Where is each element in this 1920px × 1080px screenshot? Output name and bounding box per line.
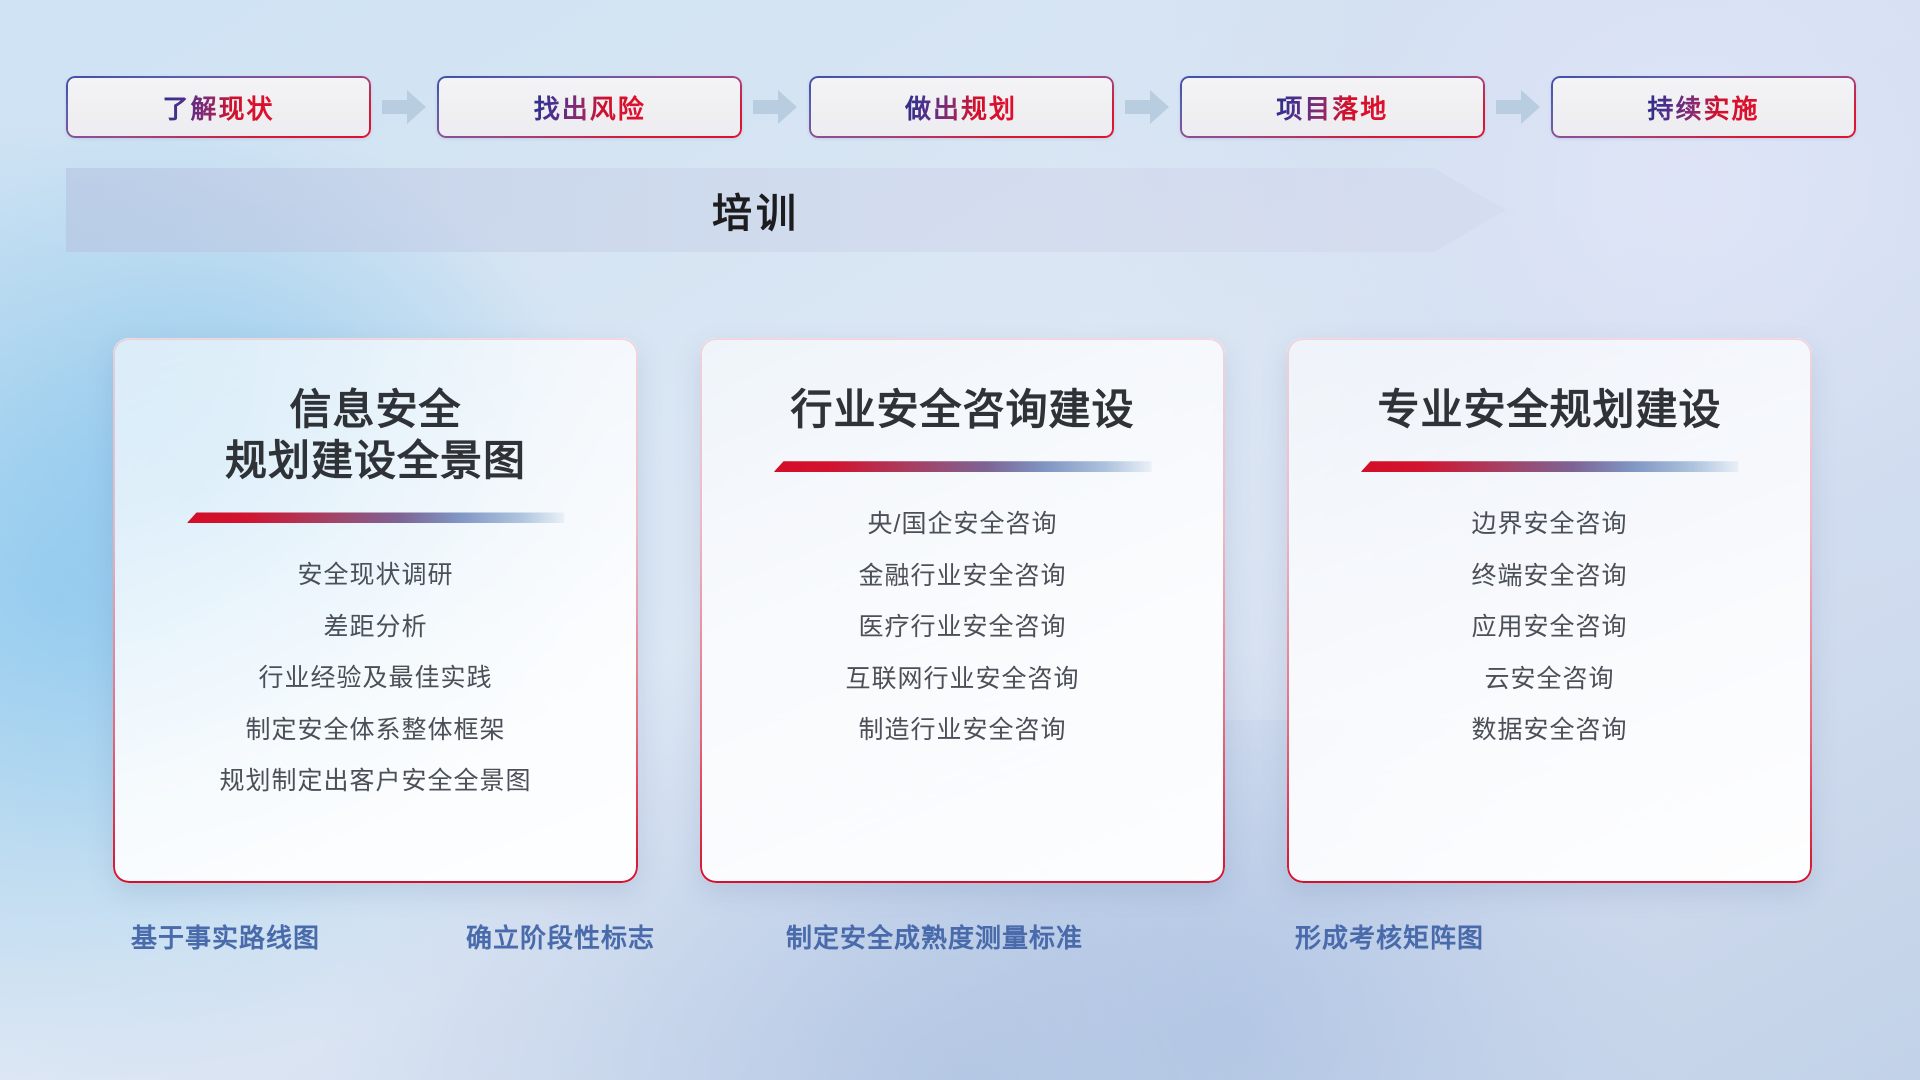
process-step-4[interactable]: 项目落地	[1180, 76, 1485, 138]
list-item: 制定安全体系整体框架	[245, 712, 505, 750]
list-item: 行业经验及最佳实践	[258, 660, 492, 698]
list-item: 数据安全咨询	[1471, 712, 1627, 750]
list-item: 医疗行业安全咨询	[858, 609, 1066, 647]
arrow-right-icon	[742, 90, 808, 124]
banner-title: 培训	[66, 168, 1506, 252]
list-item: 规划制定出客户安全全景图	[219, 763, 531, 801]
process-step-label: 做出规划	[905, 89, 1017, 126]
process-steps: 了解现状 找出风险 做出规划 项目落地 持续实施	[66, 76, 1856, 138]
process-step-3[interactable]: 做出规划	[809, 76, 1114, 138]
list-item: 金融行业安全咨询	[858, 558, 1066, 596]
process-step-label: 找出风险	[534, 89, 646, 126]
process-step-5[interactable]: 持续实施	[1551, 76, 1856, 138]
card-industry-security-consulting[interactable]: 行业安全咨询建设 央/国企安全咨询 金融行业安全咨询 医疗行业安全咨询 互联网行…	[700, 338, 1225, 883]
process-step-label: 了解现状	[162, 89, 274, 126]
list-item: 差距分析	[323, 609, 427, 647]
caption-maturity-standard: 制定安全成熟度测量标准	[786, 918, 1083, 955]
list-item: 应用安全咨询	[1471, 609, 1627, 647]
list-item: 安全现状调研	[297, 557, 453, 595]
list-item: 制造行业安全咨询	[858, 712, 1066, 750]
slide-canvas: 了解现状 找出风险 做出规划 项目落地 持续实施 培训	[0, 0, 1920, 1080]
card-divider	[774, 461, 1152, 472]
card-divider	[187, 512, 565, 523]
card-title: 行业安全咨询建设	[790, 384, 1134, 435]
card-list: 安全现状调研 差距分析 行业经验及最佳实践 制定安全体系整体框架 规划制定出客户…	[147, 557, 604, 801]
process-step-2[interactable]: 找出风险	[437, 76, 742, 138]
captions-row: 基于事实路线图 确立阶段性标志 制定安全成熟度测量标准 形成考核矩阵图	[0, 918, 1920, 978]
list-item: 云安全咨询	[1484, 661, 1614, 699]
arrow-right-icon	[371, 90, 437, 124]
cards-row: 信息安全 规划建设全景图 安全现状调研 差距分析 行业经验及最佳实践 制定安全体…	[113, 338, 1813, 883]
card-title: 信息安全 规划建设全景图	[225, 384, 526, 486]
list-item: 互联网行业安全咨询	[845, 661, 1079, 699]
process-step-label: 持续实施	[1647, 89, 1759, 126]
card-list: 边界安全咨询 终端安全咨询 应用安全咨询 云安全咨询 数据安全咨询	[1321, 506, 1778, 750]
list-item: 央/国企安全咨询	[868, 506, 1058, 544]
card-divider	[1361, 461, 1739, 472]
caption-assessment-matrix: 形成考核矩阵图	[1295, 918, 1484, 955]
card-list: 央/国企安全咨询 金融行业安全咨询 医疗行业安全咨询 互联网行业安全咨询 制造行…	[734, 506, 1191, 750]
arrow-right-icon	[1485, 90, 1551, 124]
training-banner: 培训	[66, 168, 1506, 252]
list-item: 边界安全咨询	[1471, 506, 1627, 544]
caption-roadmap: 基于事实路线图	[131, 918, 320, 955]
list-item: 终端安全咨询	[1471, 558, 1627, 596]
process-step-1[interactable]: 了解现状	[66, 76, 371, 138]
arrow-right-icon	[1114, 90, 1180, 124]
card-title: 专业安全规划建设	[1377, 384, 1721, 435]
card-professional-security-planning[interactable]: 专业安全规划建设 边界安全咨询 终端安全咨询 应用安全咨询 云安全咨询 数据安全…	[1287, 338, 1812, 883]
card-information-security-blueprint[interactable]: 信息安全 规划建设全景图 安全现状调研 差距分析 行业经验及最佳实践 制定安全体…	[113, 338, 638, 883]
process-step-label: 项目落地	[1276, 89, 1388, 126]
caption-milestones: 确立阶段性标志	[466, 918, 655, 955]
